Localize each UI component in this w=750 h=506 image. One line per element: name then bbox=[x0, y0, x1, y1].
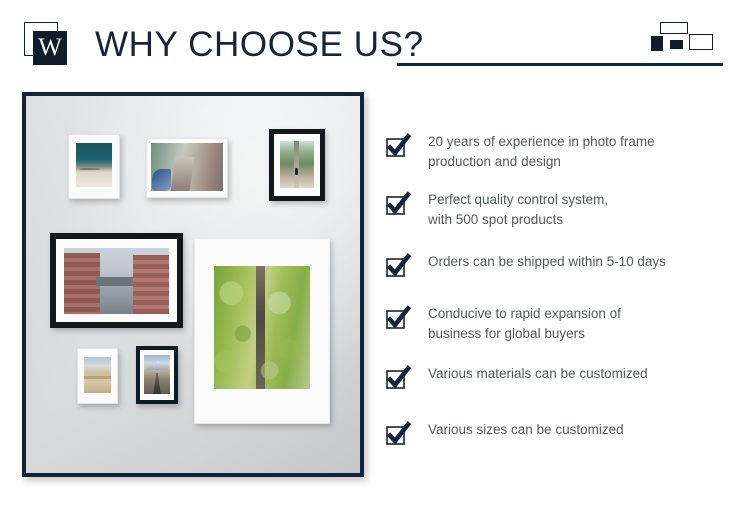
art-aerial-forest bbox=[214, 266, 310, 389]
checkmark-icon bbox=[386, 366, 412, 390]
checkmark-icon bbox=[386, 422, 412, 446]
title-underline-rule bbox=[397, 63, 723, 66]
gallery-wall-photo bbox=[22, 92, 364, 477]
frame-mountain-road bbox=[136, 346, 178, 404]
page-header: W WHY CHOOSE US? bbox=[0, 0, 750, 86]
frame-forest-road bbox=[146, 138, 228, 198]
frame-aerial-forest bbox=[194, 238, 330, 424]
list-item-label: Orders can be shipped within 5-10 days bbox=[428, 252, 666, 272]
decorative-rectangles bbox=[651, 22, 725, 58]
art-bridge-detail bbox=[96, 277, 138, 286]
deco-filled-rect-small bbox=[670, 40, 683, 49]
list-item-label: Various materials can be customized bbox=[428, 364, 648, 384]
deco-outline-rect-small bbox=[689, 34, 713, 50]
list-item-label: 20 years of experience in photo frame pr… bbox=[428, 132, 655, 171]
deco-outline-rect-wide bbox=[660, 22, 688, 34]
checkmark-icon bbox=[386, 306, 412, 330]
brand-logo: W bbox=[24, 22, 80, 70]
frame-city-bridge bbox=[50, 233, 183, 328]
art-seascape bbox=[76, 143, 112, 187]
list-item-label: Perfect quality control system, with 500… bbox=[428, 190, 608, 229]
deco-filled-square bbox=[651, 36, 663, 51]
logo-letter: W bbox=[33, 31, 67, 65]
checkmark-icon bbox=[386, 192, 412, 216]
list-item-label: Conducive to rapid expansion of business… bbox=[428, 304, 621, 343]
frame-palm-path bbox=[269, 129, 325, 201]
checkmark-icon bbox=[386, 254, 412, 278]
frame-seascape bbox=[68, 134, 120, 199]
art-forest-road bbox=[151, 143, 223, 191]
page-root: W WHY CHOOSE US? bbox=[0, 0, 750, 506]
page-title: WHY CHOOSE US? bbox=[95, 24, 424, 66]
art-mountain-road bbox=[144, 355, 170, 394]
checkmark-icon bbox=[386, 134, 412, 158]
art-palm-path bbox=[280, 141, 314, 188]
frame-desert bbox=[77, 348, 118, 404]
art-desert bbox=[84, 357, 111, 393]
art-city-bridge bbox=[64, 248, 169, 314]
list-item-label: Various sizes can be customized bbox=[428, 420, 624, 440]
